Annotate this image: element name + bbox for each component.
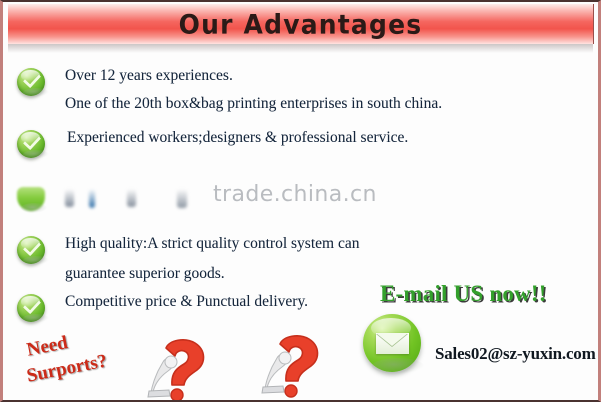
list-item-label: Over 12 years experiences. — [65, 68, 442, 84]
red-question-mark-icon — [253, 334, 333, 400]
support-line-1: Need — [25, 332, 70, 361]
advantages-banner-image: Our Advantages Over 12 years experiences… — [0, 0, 601, 402]
email-call-to-action: E-mail US now!! — [380, 281, 547, 307]
list-item-label: High quality:A strict quality control sy… — [65, 236, 359, 252]
list-item: Experienced workers;designers & professi… — [17, 130, 408, 160]
green-check-icon — [17, 130, 47, 160]
email-address: Sales02@sz-yuxin.com — [435, 344, 596, 364]
list-item: Over 12 years experiences. One of the 20… — [17, 68, 442, 111]
list-item-label: Competitive price & Punctual delivery. — [65, 294, 308, 310]
green-check-icon — [17, 294, 47, 324]
watermark: trade.china.cn — [213, 182, 377, 207]
banner-shadow — [8, 44, 593, 53]
header-banner: Our Advantages — [8, 4, 594, 44]
green-check-icon — [17, 68, 47, 98]
list-item-label: Experienced workers;designers & professi… — [67, 130, 408, 146]
list-item-label: One of the 20th box&bag printing enterpr… — [65, 96, 442, 112]
green-check-icon — [17, 236, 47, 266]
green-envelope-icon — [363, 314, 425, 376]
list-item: High quality:A strict quality control sy… — [17, 236, 359, 281]
list-item-label: guarantee superior goods. — [65, 266, 359, 282]
list-item: Competitive price & Punctual delivery. — [17, 294, 308, 324]
red-question-mark-icon — [139, 338, 219, 402]
page-title: Our Advantages — [179, 9, 423, 40]
